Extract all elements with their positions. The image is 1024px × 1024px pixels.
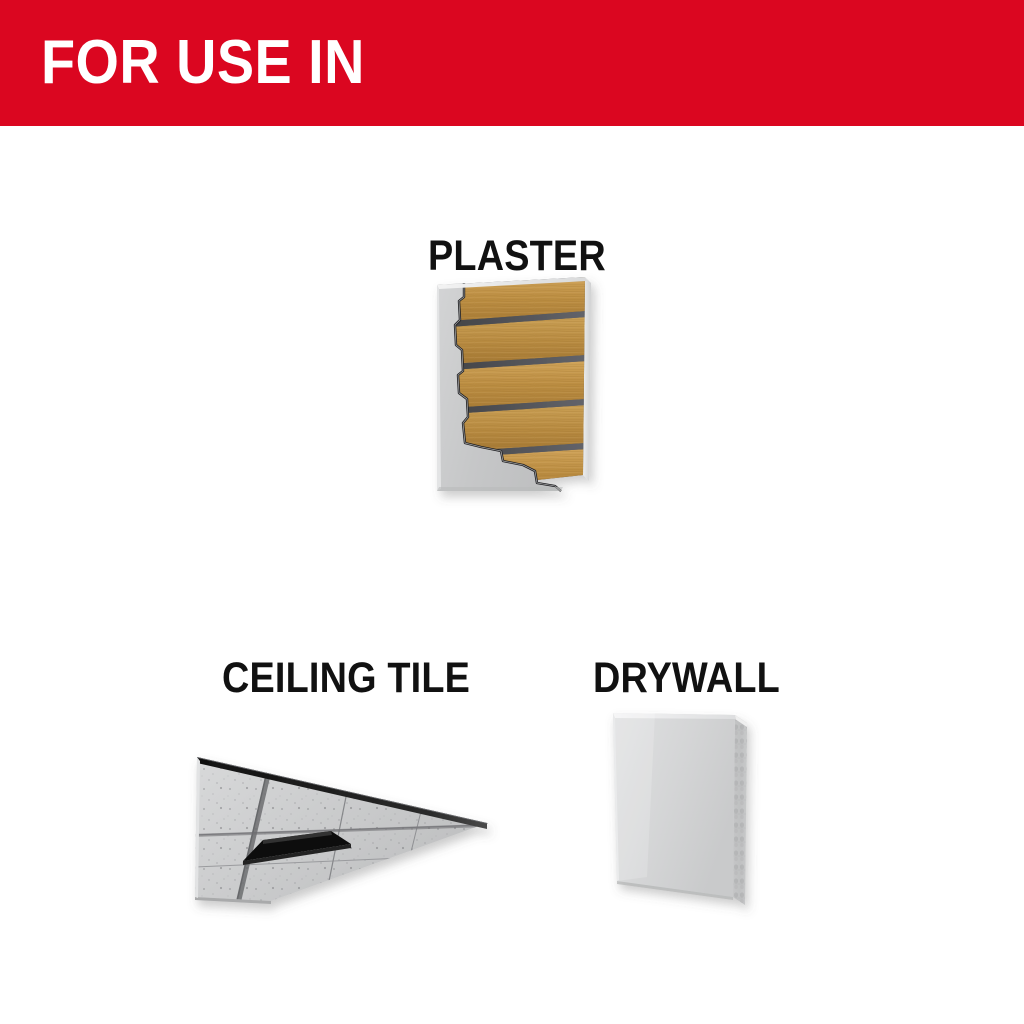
page-title: FOR USE IN: [41, 31, 365, 95]
ceiling-tile-illustration: [175, 745, 505, 925]
material-label-ceiling-tile: CEILING TILE: [222, 655, 470, 701]
drywall-illustration: [595, 695, 770, 920]
header-banner: FOR USE IN: [0, 0, 1024, 126]
material-label-plaster: PLASTER: [428, 233, 606, 279]
plaster-illustration: [415, 275, 635, 520]
